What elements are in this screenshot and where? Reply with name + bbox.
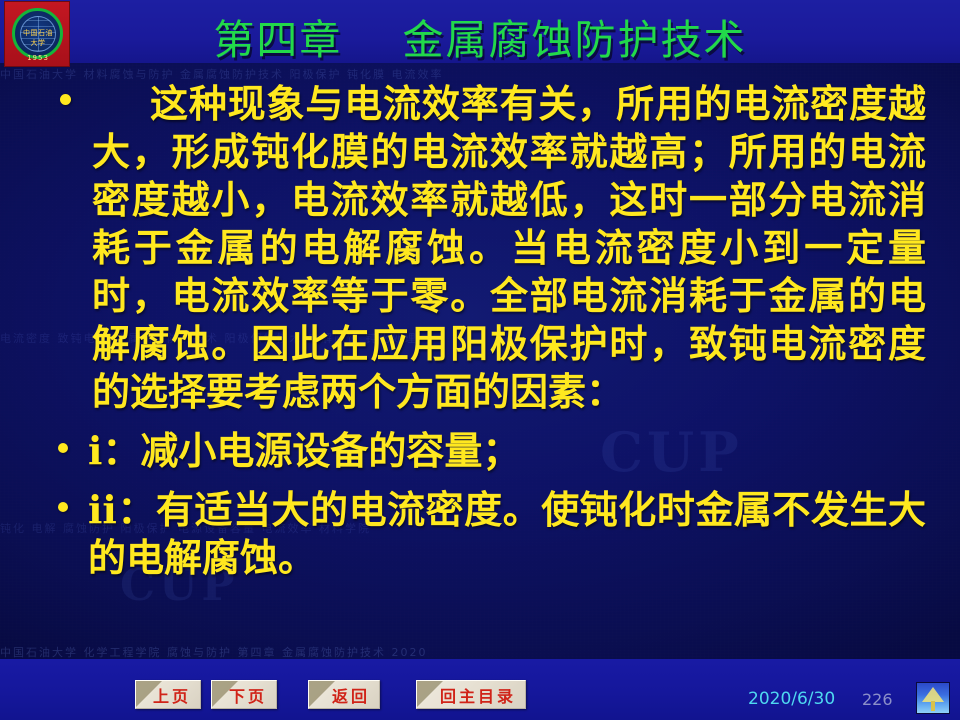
next-page-button[interactable]: 下页 bbox=[211, 680, 277, 709]
logo-center-text: 中国石油大学 bbox=[20, 28, 56, 48]
bullet-marker bbox=[58, 502, 68, 512]
page-title: 第四章 金属腐蚀防护技术 bbox=[0, 6, 960, 66]
badge-trunk bbox=[931, 701, 935, 711]
list-item-text: i：减小电源设备的容量； bbox=[88, 428, 520, 473]
paragraph-text: 这种现象与电流效率有关，所用的电流密度越大，形成钝化膜的电流效率就越高；所用的电… bbox=[92, 81, 926, 414]
logo-year: 1953 bbox=[5, 54, 71, 62]
badge-shape bbox=[922, 687, 944, 702]
body-paragraph-main: 这种现象与电流效率有关，所用的电流密度越大，形成钝化膜的电流效率就越高；所用的电… bbox=[0, 80, 960, 416]
presentation-slide: 中国石油大学 材料腐蚀与防护 金属腐蚀防护技术 阳极保护 钝化膜 电流效率 电流… bbox=[0, 0, 960, 720]
list-item-ii: ii：有适当大的电流密度。使钝化时金属不发生大的电解腐蚀。 bbox=[0, 486, 960, 582]
bullet-marker bbox=[60, 94, 71, 105]
return-button[interactable]: 返回 bbox=[308, 680, 380, 709]
university-logo: 中国石油大学 1953 bbox=[4, 1, 70, 67]
bullet-marker bbox=[58, 443, 68, 453]
footer-page-number: 226 bbox=[862, 690, 893, 709]
logo-badge-icon bbox=[916, 682, 950, 714]
list-item-text: ii：有适当大的电流密度。使钝化时金属不发生大的电解腐蚀。 bbox=[88, 487, 926, 580]
main-menu-button[interactable]: 回主目录 bbox=[416, 680, 526, 709]
slide-content: 这种现象与电流效率有关，所用的电流密度越大，形成钝化膜的电流效率就越高；所用的电… bbox=[0, 80, 960, 582]
previous-page-button[interactable]: 上页 bbox=[135, 680, 201, 709]
list-item-i: i：减小电源设备的容量； bbox=[0, 427, 960, 475]
footer-date: 2020/6/30 bbox=[748, 689, 835, 709]
